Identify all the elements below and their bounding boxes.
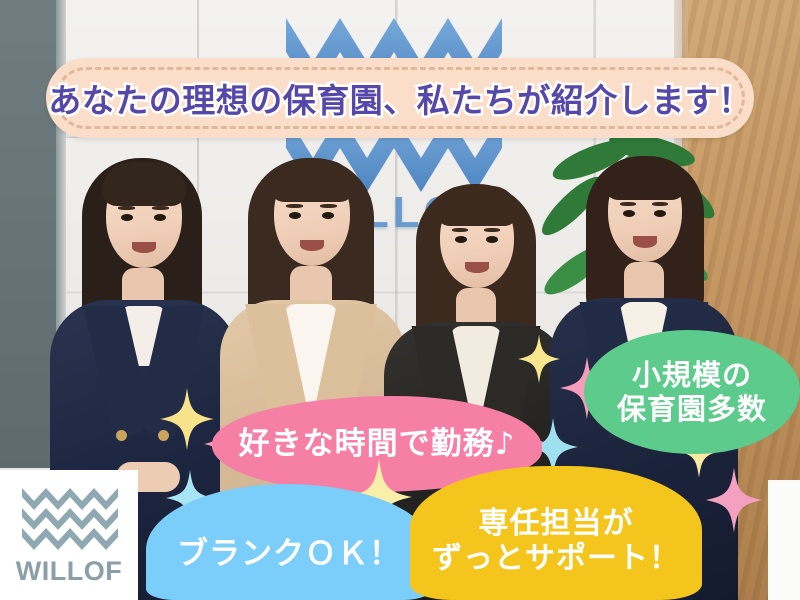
person-2-brow-right — [320, 204, 337, 208]
willof-zigzag-icon — [22, 488, 118, 550]
person-2-smile — [300, 240, 324, 251]
person-3-brow-right — [484, 228, 500, 232]
person-4-hair-front — [604, 158, 686, 200]
bubble-flexible-hours-text: 好きな時間で勤務♪ — [239, 426, 516, 463]
person-1-brow-left — [118, 206, 135, 210]
willof-corner-logo[interactable]: WILLOF — [0, 470, 138, 600]
person-2-brow-left — [286, 204, 303, 208]
person-3-smile — [465, 262, 489, 273]
bubble-small-nurseries[interactable]: 小規模の 保育園多数 — [584, 330, 800, 454]
headline-banner: あなたの理想の保育園、私たちが紹介します！ — [46, 58, 754, 138]
sparkle-yellow-upper-icon — [518, 334, 560, 384]
person-3-eye-right — [486, 236, 498, 243]
bubble-small-nurseries-line-1: 小規模の — [617, 358, 767, 392]
bubble-dedicated-support-line-1: 専任担当が — [432, 506, 680, 541]
headline-text: あなたの理想の保育園、私たちが紹介します！ — [46, 58, 754, 138]
bubble-dedicated-support-line-2: ずっとサポート！ — [432, 541, 680, 576]
person-1-eye-left — [121, 214, 133, 221]
person-4-brow-left — [620, 202, 636, 206]
advertisement-banner: WILLOF — [0, 0, 800, 600]
person-2-eye-right — [322, 212, 334, 219]
person-2-eye-left — [289, 212, 301, 219]
person-1-smile — [132, 242, 156, 253]
bubble-dedicated-support[interactable]: 専任担当が ずっとサポート！ — [410, 466, 702, 600]
person-3-eye-left — [455, 236, 467, 243]
person-4-smile — [633, 236, 657, 248]
person-1-brow-right — [152, 206, 169, 210]
person-1-eye-right — [154, 214, 166, 221]
person-3-hair-front — [436, 186, 518, 226]
person-3-brow-left — [452, 228, 468, 232]
wall-white-strip — [768, 480, 800, 600]
bubble-small-nurseries-line-2: 保育園多数 — [617, 392, 767, 426]
person-4-brow-right — [652, 202, 668, 206]
person-1-button-left — [116, 430, 127, 441]
person-4-eye-right — [654, 210, 666, 217]
person-1-hair-front — [102, 162, 186, 206]
person-2-hair-front — [270, 160, 354, 202]
willof-corner-logo-text: WILLOF — [0, 556, 138, 587]
person-4-eye-left — [623, 210, 635, 217]
bubble-blank-ok-text: ブランクＯＫ！ — [177, 536, 401, 573]
